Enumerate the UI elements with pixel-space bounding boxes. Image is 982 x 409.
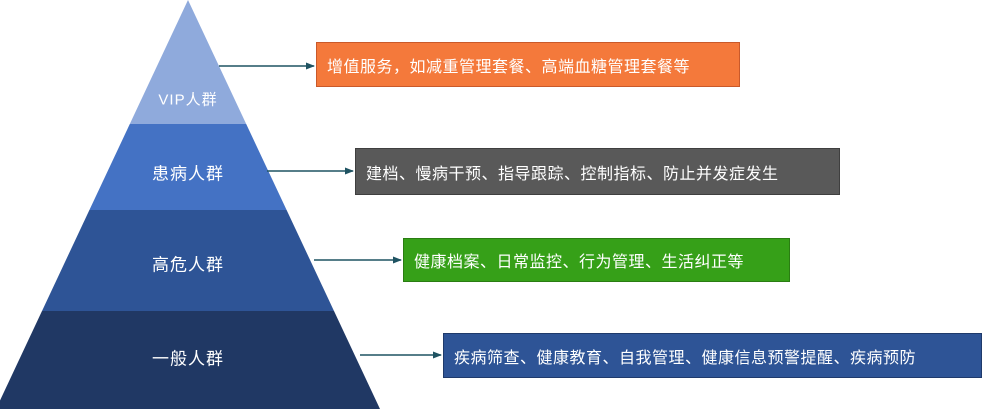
callout-box-high-risk[interactable]: 健康档案、日常监控、行为管理、生活纠正等 <box>403 238 790 282</box>
pyramid-tier-3-shape[interactable] <box>42 210 334 311</box>
callout-box-general[interactable]: 疾病筛查、健康教育、自我管理、健康信息预警提醒、疾病预防 <box>443 333 982 378</box>
callout-box-patients[interactable]: 建档、慢病干预、指导跟踪、控制指标、防止并发症发生 <box>355 148 840 195</box>
pyramid-tier-1-shape[interactable] <box>130 0 246 124</box>
callout-box-vip[interactable]: 增值服务，如减重管理套餐、高端血糖管理套餐等 <box>316 42 740 87</box>
diagram-canvas: VIP人群 患病人群 高危人群 一般人群 增值服务，如减重管理套餐、高端血糖管理… <box>0 0 982 409</box>
pyramid-tier-2-shape[interactable] <box>89 124 286 210</box>
pyramid-tier-4-shape[interactable] <box>0 311 380 409</box>
